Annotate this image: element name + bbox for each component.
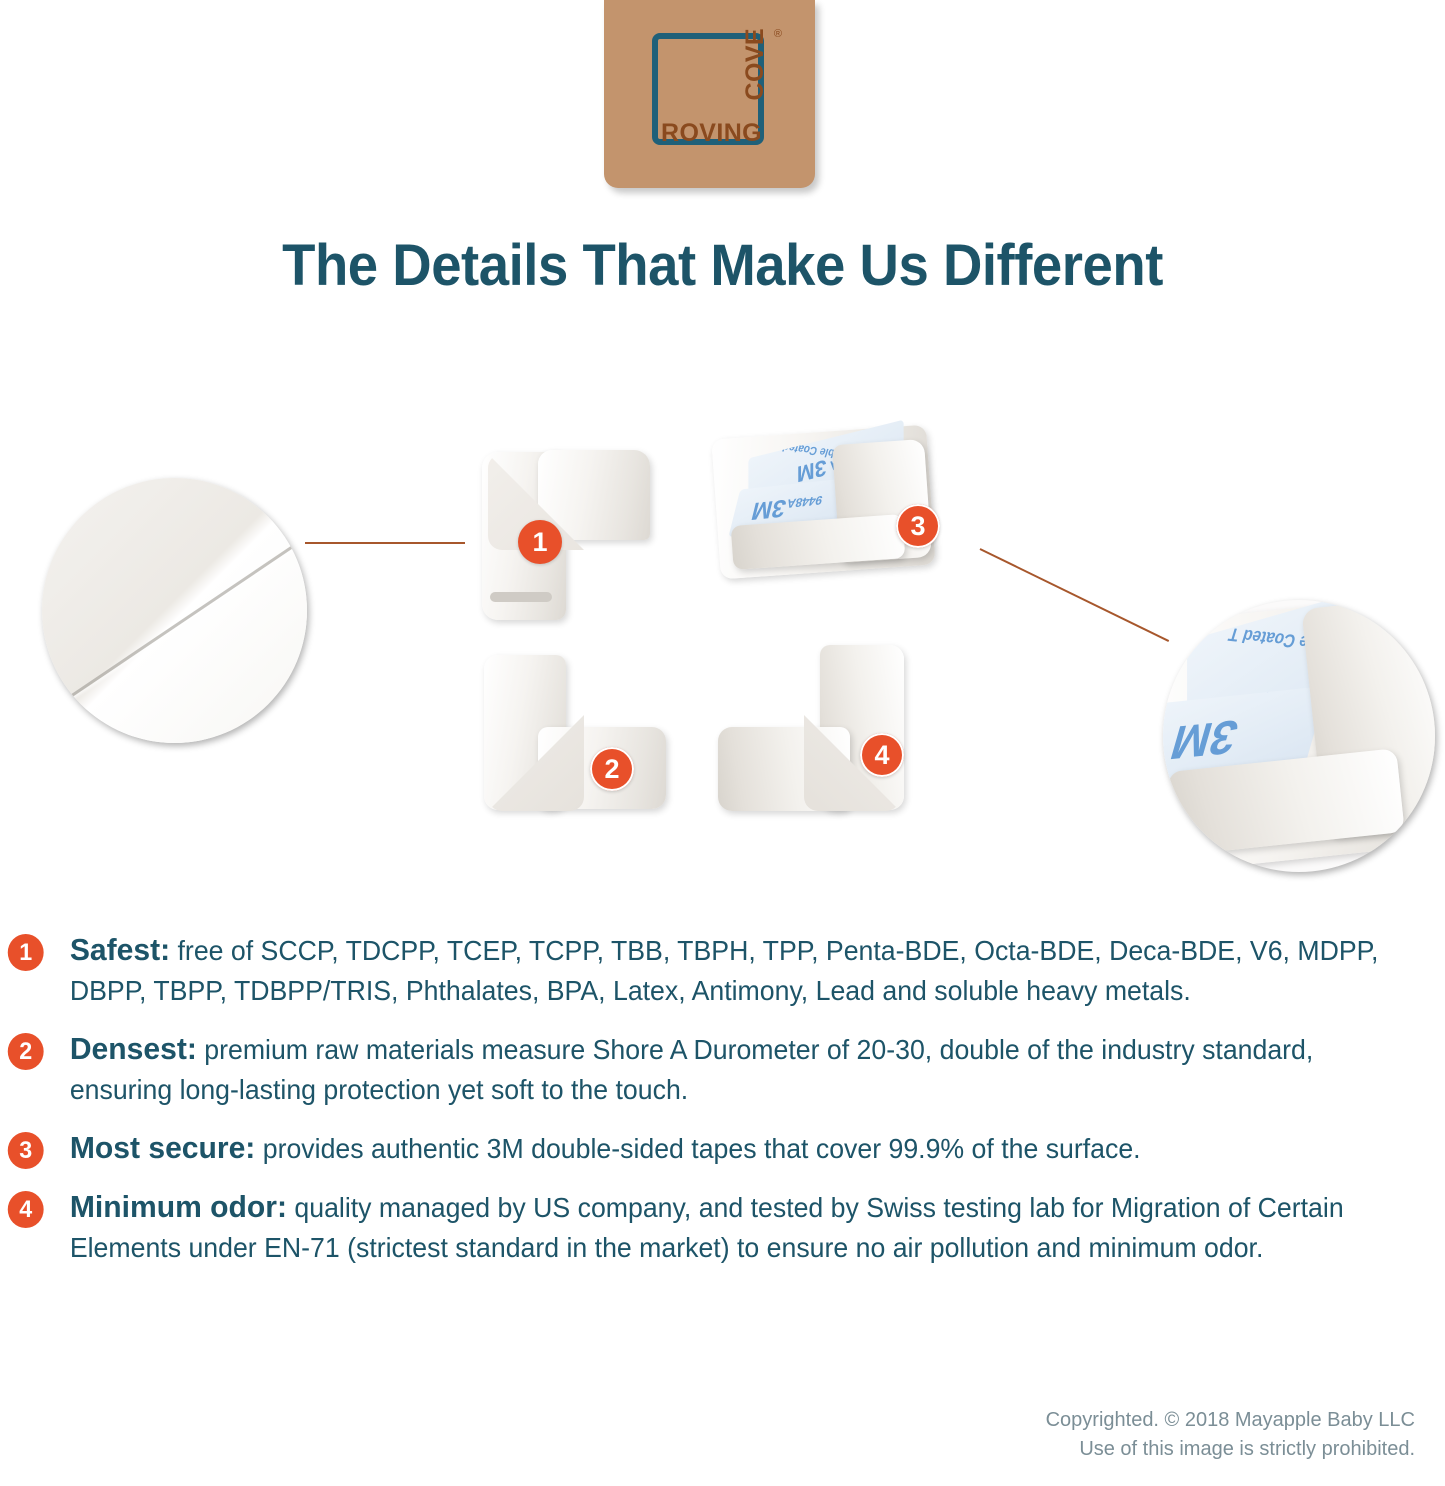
magnifier-circle-3m-tape: Double Coated T 9448A 3M: [1163, 600, 1435, 872]
product-badge-1: 1: [518, 520, 562, 564]
connector-line-left: [305, 542, 465, 544]
logo-wordmark-cove: COVE: [741, 28, 770, 100]
feature-number-badge-2: 2: [8, 1033, 44, 1070]
corner-guard-4: 4: [712, 645, 912, 825]
feature-lead-1: Safest:: [70, 932, 170, 967]
copyright-notice: Copyrighted. © 2018 Mayapple Baby LLC Us…: [1046, 1406, 1415, 1464]
tape-label-3m-2: 3M: [749, 492, 789, 524]
feature-lead-4: Minimum odor:: [70, 1189, 287, 1224]
feature-lead-3: Most secure:: [70, 1130, 255, 1165]
page-title: The Details That Make Us Different: [43, 232, 1401, 299]
magnifier-circle-foam-surface: [42, 478, 307, 743]
guard-inner-lip: [490, 592, 552, 602]
feature-item-4: 4 Minimum odor: quality managed by US co…: [0, 1187, 1402, 1268]
feature-body-3: provides authentic 3M double-sided tapes…: [255, 1133, 1140, 1164]
zoom-tape-label-3m: 3M: [1164, 709, 1244, 772]
product-badge-2: 2: [590, 747, 634, 791]
feature-number-badge-4: 4: [8, 1191, 44, 1228]
feature-number-badge-3: 3: [8, 1132, 44, 1169]
feature-item-3: 3 Most secure: provides authentic 3M dou…: [0, 1128, 1402, 1169]
copyright-line-2: Use of this image is strictly prohibited…: [1046, 1435, 1415, 1464]
connector-line-right: [980, 548, 1170, 642]
corner-guard-3: 3M 9448A Double Coated T 3M 9448A 3: [716, 432, 931, 580]
feature-body-2: premium raw materials measure Shore A Du…: [70, 1034, 1313, 1105]
corner-guard-2: 2: [480, 655, 680, 820]
product-badge-3: 3: [896, 504, 940, 548]
feature-lead-2: Densest:: [70, 1031, 197, 1066]
tape-label-code-2: 9448A: [785, 493, 824, 511]
feature-item-2: 2 Densest: premium raw materials measure…: [0, 1029, 1402, 1110]
copyright-line-1: Copyrighted. © 2018 Mayapple Baby LLC: [1046, 1406, 1415, 1435]
feature-item-1: 1 Safest: free of SCCP, TDCPP, TCEP, TCP…: [0, 930, 1402, 1011]
brand-logo-block: ROVING COVE ®: [604, 0, 815, 188]
product-illustration-area: 1 3M 9448A Double Coated T 3M 9448A 3 Do…: [0, 400, 1445, 900]
feature-number-badge-1: 1: [8, 934, 44, 971]
foam-seam-line: [42, 513, 307, 717]
product-badge-4: 4: [860, 733, 904, 777]
registered-trademark-icon: ®: [774, 28, 782, 40]
logo-wordmark-roving: ROVING: [661, 119, 762, 148]
feature-list: 1 Safest: free of SCCP, TDCPP, TCEP, TCP…: [0, 930, 1445, 1286]
corner-guard-1: 1: [478, 442, 663, 622]
feature-body-1: free of SCCP, TDCPP, TCEP, TCPP, TBB, TB…: [70, 935, 1379, 1006]
